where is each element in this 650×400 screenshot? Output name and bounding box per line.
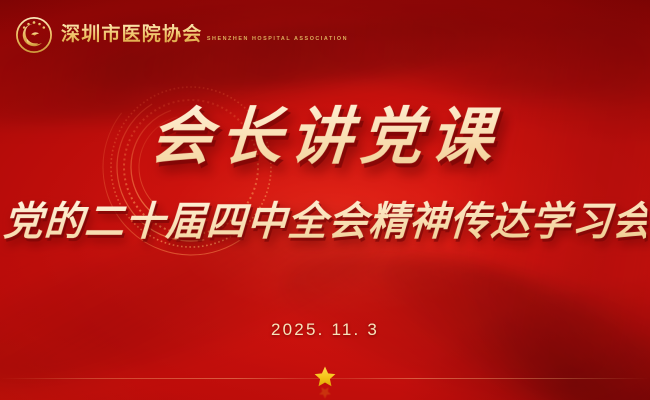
association-name-cn: 深圳市医院协会 <box>61 24 202 45</box>
bottom-star <box>312 366 338 396</box>
poster-canvas: 深圳市医院协会 SHENZHEN HOSPITAL ASSOCIATION 会长… <box>0 0 650 400</box>
shenzhen-hospital-association-emblem-icon <box>14 15 54 55</box>
association-logo-text: 深圳市医院协会 SHENZHEN HOSPITAL ASSOCIATION <box>61 25 348 45</box>
main-title: 会长讲党课 <box>0 103 650 174</box>
association-logo[interactable]: 深圳市医院协会 SHENZHEN HOSPITAL ASSOCIATION <box>14 15 348 55</box>
association-name-en: SHENZHEN HOSPITAL ASSOCIATION <box>207 36 348 42</box>
five-pointed-star-icon <box>314 366 336 387</box>
subtitle: 党的二十届四中全会精神传达学习会 <box>2 198 648 246</box>
event-date: 2025. 11. 3 <box>0 320 650 340</box>
five-pointed-star-reflection-icon <box>314 387 336 399</box>
